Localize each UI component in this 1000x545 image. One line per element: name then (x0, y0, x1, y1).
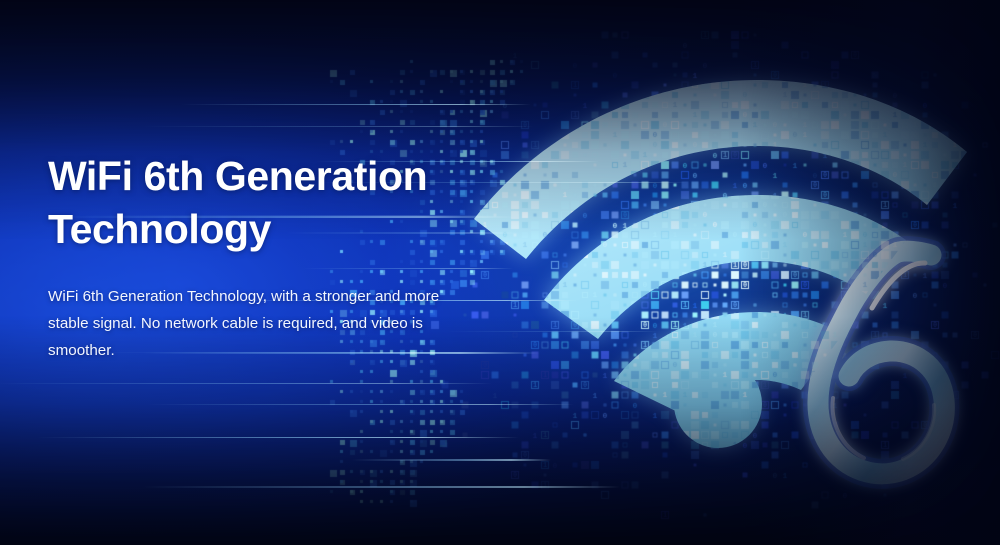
copy-block: WiFi 6th Generation Technology WiFi 6th … (48, 150, 448, 364)
wifi6-promo-banner: WiFi 6th Generation Technology WiFi 6th … (0, 0, 1000, 545)
title-line-2: Technology (48, 203, 448, 256)
description-text: WiFi 6th Generation Technology, with a s… (48, 283, 448, 364)
title-line-1: WiFi 6th Generation (48, 150, 448, 203)
page-title: WiFi 6th Generation Technology (48, 150, 448, 257)
